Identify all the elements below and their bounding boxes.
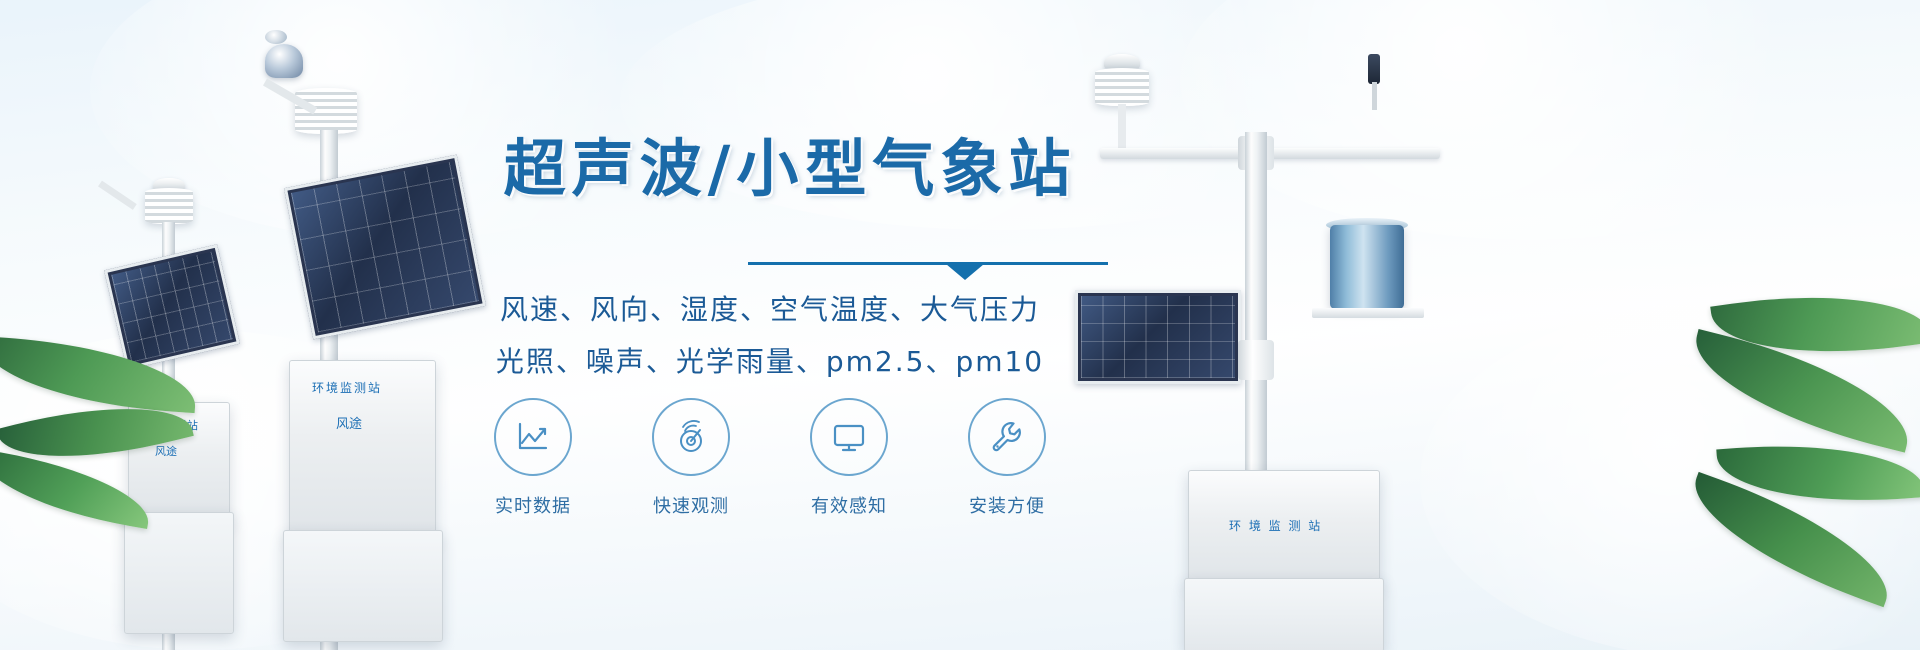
radar-signal-icon bbox=[652, 398, 730, 476]
line-chart-icon bbox=[494, 398, 572, 476]
title-divider bbox=[748, 262, 1108, 278]
feature-list: 实时数据 快速观测 bbox=[420, 398, 1120, 518]
feature-label: 实时数据 bbox=[495, 492, 571, 518]
feature-item-realtime-data[interactable]: 实时数据 bbox=[483, 398, 583, 518]
banner-content: 超声波/小型气象站 风速、风向、湿度、空气温度、大气压力 光照、噪声、光学雨量、… bbox=[0, 0, 1920, 650]
divider-line bbox=[748, 262, 1108, 265]
monitor-screen-icon bbox=[810, 398, 888, 476]
feature-label: 快速观测 bbox=[653, 492, 729, 518]
feature-label: 安装方便 bbox=[969, 492, 1045, 518]
subtitle-line-1: 风速、风向、湿度、空气温度、大气压力 bbox=[420, 288, 1120, 328]
feature-item-fast-observation[interactable]: 快速观测 bbox=[641, 398, 741, 518]
wrench-icon bbox=[968, 398, 1046, 476]
product-banner: 环境监测站 风途 环境监测站 风途 环 境 监 bbox=[0, 0, 1920, 650]
feature-item-easy-installation[interactable]: 安装方便 bbox=[957, 398, 1057, 518]
feature-label: 有效感知 bbox=[811, 492, 887, 518]
feature-item-effective-sensing[interactable]: 有效感知 bbox=[799, 398, 899, 518]
subtitle-line-2: 光照、噪声、光学雨量、pm2.5、pm10 bbox=[420, 340, 1120, 380]
page-title: 超声波/小型气象站 bbox=[440, 118, 1140, 208]
down-triangle-icon bbox=[946, 264, 984, 280]
